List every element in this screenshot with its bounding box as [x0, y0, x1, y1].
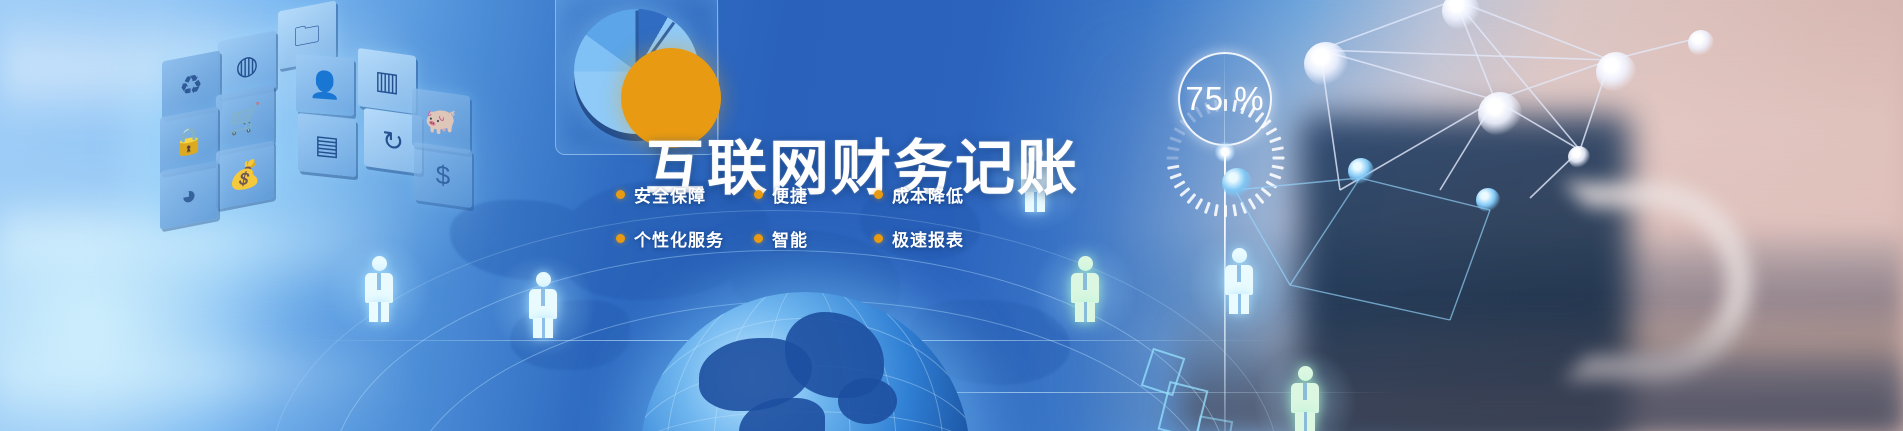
feature-item: 极速报表 [874, 226, 964, 251]
bullet-dot-icon [616, 190, 625, 199]
user-icon: 👤 [296, 54, 354, 116]
person-figure [1070, 256, 1100, 322]
gauge-value-label: 75 % [1166, 40, 1284, 158]
dollar-tag-icon: $ [414, 142, 472, 208]
feature-row-1: 安全保障 便捷 成本降低 [616, 182, 1016, 226]
feature-label: 安全保障 [634, 182, 706, 207]
clock-check-icon: ◕ [160, 160, 218, 229]
network-node-blue [1222, 168, 1252, 198]
network-node [1478, 92, 1522, 136]
feature-item: 安全保障 [616, 182, 754, 207]
feature-item: 个性化服务 [616, 226, 754, 251]
bullet-dot-icon [874, 234, 883, 243]
feature-row-2: 个性化服务 智能 极速报表 [616, 226, 1016, 270]
person-figure [364, 256, 394, 322]
network-node [1688, 30, 1714, 56]
feature-label: 便捷 [772, 182, 808, 207]
feature-list: 安全保障 便捷 成本降低 个性化服务 智能 极速报表 [616, 182, 1016, 270]
feature-item: 智能 [754, 226, 874, 251]
icon-cube-grid: 🗀 ◍ ♻ ▥ 👤 🛒 🔒 ▤ ↻ 🐖 💰 ◕ $ [168, 0, 458, 244]
feature-label: 极速报表 [892, 226, 964, 251]
bullet-dot-icon [874, 190, 883, 199]
network-node [1568, 146, 1590, 168]
person-figure [1224, 248, 1254, 314]
bullet-dot-icon [616, 234, 625, 243]
feature-label: 个性化服务 [634, 226, 724, 251]
money-bag-icon: 💰 [216, 140, 274, 209]
banner-root: 🗀 ◍ ♻ ▥ 👤 🛒 🔒 ▤ ↻ 🐖 💰 ◕ $ 75 % [0, 0, 1903, 431]
feature-item: 成本降低 [874, 182, 964, 207]
accent-circle [621, 48, 721, 148]
network-node [1304, 42, 1348, 86]
bullet-dot-icon [754, 190, 763, 199]
feature-label: 智能 [772, 226, 808, 251]
progress-gauge-75: 75 % [1166, 40, 1284, 158]
network-node-blue [1476, 188, 1500, 212]
person-figure [1290, 366, 1320, 431]
bullet-dot-icon [754, 234, 763, 243]
feature-item: 便捷 [754, 182, 874, 207]
person-figure [528, 272, 558, 338]
continent-shape [838, 378, 897, 424]
credit-card-dollar-icon: ▤ [298, 113, 356, 177]
bar-chart-icon: ▥ [358, 48, 416, 114]
network-node-blue [1348, 158, 1374, 184]
network-node [1596, 52, 1636, 92]
feature-label: 成本降低 [892, 182, 964, 207]
